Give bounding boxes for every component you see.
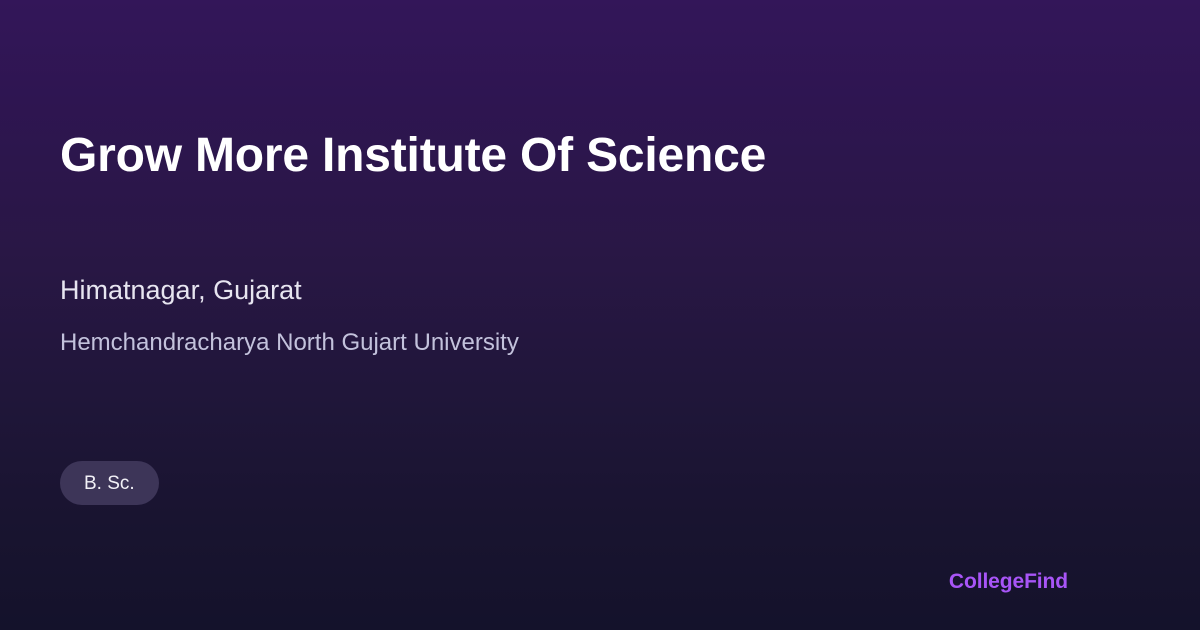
college-share-card: Grow More Institute Of Science Himatnaga… xyxy=(0,0,1200,630)
degree-badge-list: B. Sc. xyxy=(60,461,159,505)
college-location: Himatnagar, Gujarat xyxy=(60,273,302,308)
status-badge: B. Sc. xyxy=(60,461,159,505)
brand-logo: CollegeFind xyxy=(949,569,1068,594)
card-content: Grow More Institute Of Science Himatnaga… xyxy=(60,0,1140,630)
affiliated-university: Hemchandracharya North Gujart University xyxy=(60,327,519,358)
page-title: Grow More Institute Of Science xyxy=(60,128,766,185)
